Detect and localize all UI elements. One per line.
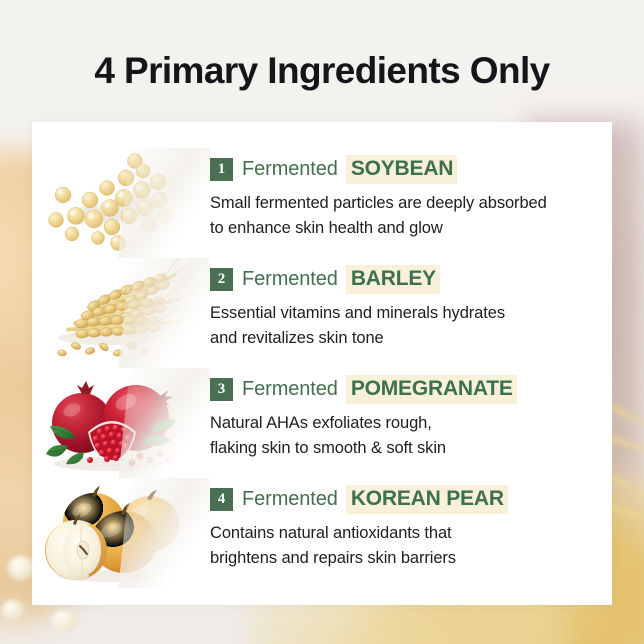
ingredient-prefix: Fermented bbox=[242, 488, 338, 511]
ingredients-card: 1 Fermented SOYBEAN Small fermented part… bbox=[32, 122, 612, 605]
ingredient-content: 4 Fermented KOREAN PEAR Contains natural… bbox=[210, 478, 508, 571]
description-line: flaking skin to smooth & soft skin bbox=[210, 436, 517, 461]
list-item: 3 Fermented POMEGRANATE Natural AHAs exf… bbox=[32, 368, 612, 478]
description-line: Small fermented particles are deeply abs… bbox=[210, 191, 547, 216]
list-item: 1 Fermented SOYBEAN Small fermented part… bbox=[32, 148, 612, 258]
list-item: 2 Fermented BARLEY Essential vitamins an… bbox=[32, 258, 612, 368]
ingredient-content: 2 Fermented BARLEY Essential vitamins an… bbox=[210, 258, 505, 351]
ingredient-heading: 2 Fermented BARLEY bbox=[210, 265, 505, 294]
description-line: and revitalizes skin tone bbox=[210, 326, 505, 351]
description-line: Essential vitamins and minerals hydrates bbox=[210, 301, 505, 326]
ingredient-prefix: Fermented bbox=[242, 158, 338, 181]
ingredient-content: 3 Fermented POMEGRANATE Natural AHAs exf… bbox=[210, 368, 517, 461]
korean-pear-photo bbox=[32, 478, 210, 588]
ingredient-description: Contains natural antioxidants that brigh… bbox=[210, 521, 508, 571]
background-soybean bbox=[8, 556, 34, 580]
ingredient-name: BARLEY bbox=[346, 265, 440, 294]
description-line: to enhance skin health and glow bbox=[210, 216, 547, 241]
pomegranate-photo bbox=[32, 368, 210, 478]
ingredient-number-badge: 2 bbox=[210, 268, 233, 291]
background-soybean bbox=[2, 600, 24, 620]
ingredient-heading: 3 Fermented POMEGRANATE bbox=[210, 375, 517, 404]
ingredient-description: Small fermented particles are deeply abs… bbox=[210, 191, 547, 241]
ingredients-list: 1 Fermented SOYBEAN Small fermented part… bbox=[32, 122, 612, 605]
page-title: 4 Primary Ingredients Only bbox=[0, 50, 644, 92]
background-soybean bbox=[52, 610, 76, 632]
ingredient-name: POMEGRANATE bbox=[346, 375, 517, 404]
list-item: 4 Fermented KOREAN PEAR Contains natural… bbox=[32, 478, 612, 588]
ingredient-description: Essential vitamins and minerals hydrates… bbox=[210, 301, 505, 351]
description-line: Contains natural antioxidants that bbox=[210, 521, 508, 546]
ingredient-number-badge: 4 bbox=[210, 488, 233, 511]
ingredient-description: Natural AHAs exfoliates rough, flaking s… bbox=[210, 411, 517, 461]
barley-stalks-photo bbox=[32, 258, 210, 368]
soybeans-photo bbox=[32, 148, 210, 258]
ingredient-name: KOREAN PEAR bbox=[346, 485, 508, 514]
ingredient-prefix: Fermented bbox=[242, 378, 338, 401]
ingredient-name: SOYBEAN bbox=[346, 155, 457, 184]
description-line: Natural AHAs exfoliates rough, bbox=[210, 411, 517, 436]
ingredient-heading: 4 Fermented KOREAN PEAR bbox=[210, 485, 508, 514]
description-line: brightens and repairs skin barriers bbox=[210, 546, 508, 571]
ingredient-number-badge: 3 bbox=[210, 378, 233, 401]
ingredient-number-badge: 1 bbox=[210, 158, 233, 181]
ingredient-prefix: Fermented bbox=[242, 268, 338, 291]
ingredient-heading: 1 Fermented SOYBEAN bbox=[210, 155, 547, 184]
ingredient-content: 1 Fermented SOYBEAN Small fermented part… bbox=[210, 148, 547, 241]
